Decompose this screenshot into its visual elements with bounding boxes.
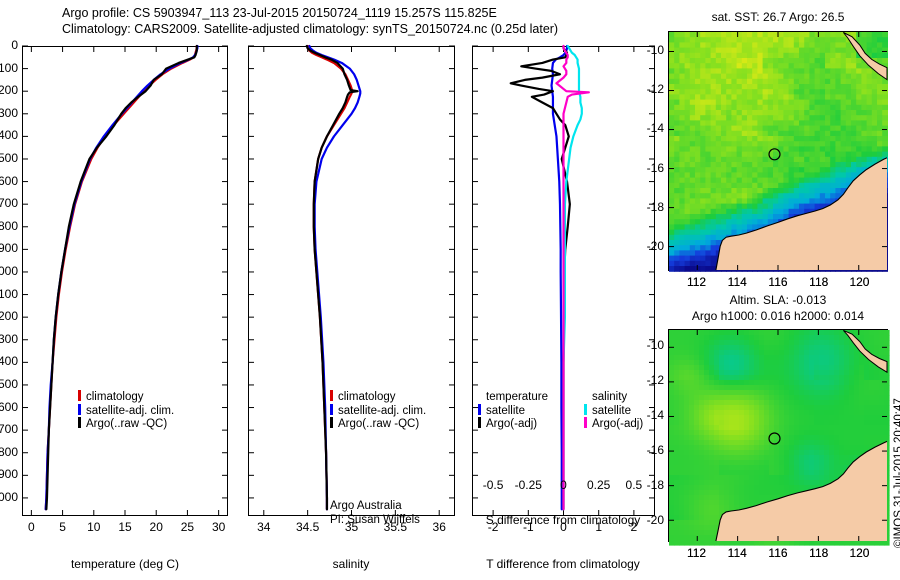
legend-item-climatology: climatology bbox=[78, 389, 174, 403]
tick-label: 1900 bbox=[0, 467, 18, 481]
tick-label: 1100 bbox=[0, 287, 18, 301]
legend-difference: temperature satellite Argo(-adj) salinit… bbox=[478, 389, 643, 430]
legend-swatch-satellite-adj-s bbox=[330, 404, 333, 415]
legend-item-argo-raw: Argo(..raw -QC) bbox=[78, 416, 174, 430]
tick-label: 600 bbox=[0, 174, 18, 188]
tick-label: 300 bbox=[0, 106, 18, 120]
legend-item-satellite-adj: satellite-adj. clim. bbox=[78, 403, 174, 417]
tick-label: 20 bbox=[141, 520, 171, 534]
map-sst-canvas bbox=[669, 32, 887, 270]
tick-label: 15 bbox=[110, 520, 140, 534]
tick-label: -10 bbox=[638, 338, 664, 352]
tick-label: -18 bbox=[638, 478, 664, 492]
tick-label: -18 bbox=[638, 200, 664, 214]
panel-difference-plot bbox=[472, 46, 655, 516]
tick-label: 1300 bbox=[0, 332, 18, 346]
legend-item-temp-satellite: satellite bbox=[478, 403, 548, 417]
tick-label: 112 bbox=[677, 546, 717, 560]
legend-group-title-temperature: temperature bbox=[478, 389, 548, 403]
legend-swatch-argo-raw bbox=[78, 417, 81, 428]
tick-label: 0 bbox=[16, 520, 46, 534]
map-sst-title: sat. SST: 26.7 Argo: 26.5 bbox=[712, 10, 845, 24]
salinity-notes: Argo Australia PI: Susan Wijffels bbox=[330, 500, 420, 527]
tick-label: 120 bbox=[839, 275, 879, 289]
legend-label-sal-satellite: satellite bbox=[592, 405, 631, 417]
legend-swatch-sal-satellite bbox=[584, 404, 587, 415]
tick-label: 36 bbox=[419, 520, 459, 534]
legend-salinity: climatology satellite-adj. clim. Argo(..… bbox=[330, 389, 426, 430]
tick-label: -12 bbox=[638, 373, 664, 387]
tick-label: 10 bbox=[79, 520, 109, 534]
tick-label: 1600 bbox=[0, 400, 18, 414]
tick-label: -16 bbox=[638, 443, 664, 457]
legend-item-temp-argo: Argo(-adj) bbox=[478, 416, 548, 430]
tick-label: 34 bbox=[244, 520, 284, 534]
legend-label-argo-raw: Argo(..raw -QC) bbox=[86, 418, 167, 430]
tick-label: -10 bbox=[638, 43, 664, 57]
tick-label: 400 bbox=[0, 128, 18, 142]
tick-label: -1 bbox=[510, 520, 546, 534]
note-pi: PI: Susan Wijffels bbox=[330, 514, 420, 528]
tick-label: 112 bbox=[677, 275, 717, 289]
tick-label: 114 bbox=[717, 546, 757, 560]
legend-item-satellite-adj-s: satellite-adj. clim. bbox=[330, 403, 426, 417]
tick-label: 900 bbox=[0, 241, 18, 255]
map-sla-title-line2: Argo h1000: 0.016 h2000: 0.014 bbox=[692, 309, 864, 323]
tick-label: 5 bbox=[48, 520, 78, 534]
legend-label-climatology-s: climatology bbox=[338, 391, 396, 403]
tick-label: 1200 bbox=[0, 309, 18, 323]
legend-label-temp-argo: Argo(-adj) bbox=[486, 418, 537, 430]
tick-label: 200 bbox=[0, 83, 18, 97]
legend-temperature: climatology satellite-adj. clim. Argo(..… bbox=[78, 389, 174, 430]
tick-label: 118 bbox=[799, 546, 839, 560]
tick-label: 700 bbox=[0, 196, 18, 210]
legend-item-sal-satellite: satellite bbox=[584, 403, 643, 417]
legend-title-salinity: salinity bbox=[592, 391, 627, 403]
tick-label: 120 bbox=[839, 546, 879, 560]
panel-salinity-plot bbox=[248, 46, 455, 516]
axis-label-salinity: salinity bbox=[333, 557, 370, 571]
tick-label: 500 bbox=[0, 151, 18, 165]
legend-label-sal-argo: Argo(-adj) bbox=[592, 418, 643, 430]
legend-group-salinity: salinity satellite Argo(-adj) bbox=[584, 389, 643, 430]
legend-title-temperature: temperature bbox=[486, 391, 548, 403]
legend-swatch-sal-argo bbox=[584, 417, 587, 428]
tick-label: -20 bbox=[638, 239, 664, 253]
tick-label: 0 bbox=[546, 520, 582, 534]
tick-label: 118 bbox=[799, 275, 839, 289]
legend-swatch-temp-argo bbox=[478, 417, 481, 428]
tick-label: 1700 bbox=[0, 422, 18, 436]
tick-label: -2 bbox=[475, 520, 511, 534]
tick-label: 114 bbox=[717, 275, 757, 289]
legend-label-climatology: climatology bbox=[86, 391, 144, 403]
tick-label: 34.5 bbox=[288, 520, 328, 534]
legend-swatch-argo-raw-s bbox=[330, 417, 333, 428]
tick-label: 800 bbox=[0, 219, 18, 233]
tick-label: 1500 bbox=[0, 377, 18, 391]
tick-label: 1400 bbox=[0, 354, 18, 368]
note-argo-australia: Argo Australia bbox=[330, 500, 420, 514]
tick-label: 1800 bbox=[0, 445, 18, 459]
legend-label-satellite-adj: satellite-adj. clim. bbox=[86, 405, 174, 417]
legend-swatch-satellite-adj bbox=[78, 404, 81, 415]
tick-label: -14 bbox=[638, 121, 664, 135]
map-sla-title-line1: Altim. SLA: -0.013 bbox=[730, 293, 827, 307]
tick-label: 116 bbox=[758, 275, 798, 289]
legend-group-temperature: temperature satellite Argo(-adj) bbox=[478, 389, 548, 430]
tick-label: -16 bbox=[638, 161, 664, 175]
tick-label: 1000 bbox=[0, 264, 18, 278]
axis-label-temperature: temperature (deg C) bbox=[71, 557, 179, 571]
legend-item-argo-raw-s: Argo(..raw -QC) bbox=[330, 416, 426, 430]
tick-label: 25 bbox=[172, 520, 202, 534]
tick-label: 2000 bbox=[0, 490, 18, 504]
legend-item-sal-argo: Argo(-adj) bbox=[584, 416, 643, 430]
tick-label: -14 bbox=[638, 408, 664, 422]
tick-label: 30 bbox=[204, 520, 234, 534]
legend-label-temp-satellite: satellite bbox=[486, 405, 525, 417]
tick-label: -20 bbox=[638, 513, 664, 527]
tick-label: 1 bbox=[581, 520, 617, 534]
tick-label: 116 bbox=[758, 546, 798, 560]
axis-label-t-difference: T difference from climatology bbox=[486, 557, 640, 571]
header-line-1: Argo profile: CS 5903947_113 23-Jul-2015… bbox=[62, 6, 497, 20]
legend-group-title-salinity: salinity bbox=[584, 389, 643, 403]
map-sla-canvas bbox=[669, 330, 887, 541]
imos-credit: ©IMOS 31-Jul-2015 20:40:47 bbox=[893, 398, 900, 548]
legend-item-climatology-s: climatology bbox=[330, 389, 426, 403]
tick-label: 100 bbox=[0, 61, 18, 75]
tick-label: 0 bbox=[0, 38, 18, 52]
legend-label-argo-raw-s: Argo(..raw -QC) bbox=[338, 418, 419, 430]
header-line-2: Climatology: CARS2009. Satellite-adjuste… bbox=[62, 22, 558, 36]
panel-temperature-plot bbox=[22, 46, 228, 516]
legend-swatch-temp-satellite bbox=[478, 404, 481, 415]
legend-swatch-climatology-s bbox=[330, 390, 333, 401]
legend-swatch-climatology bbox=[78, 390, 81, 401]
tick-label: -12 bbox=[638, 82, 664, 96]
legend-label-satellite-adj-s: satellite-adj. clim. bbox=[338, 405, 426, 417]
